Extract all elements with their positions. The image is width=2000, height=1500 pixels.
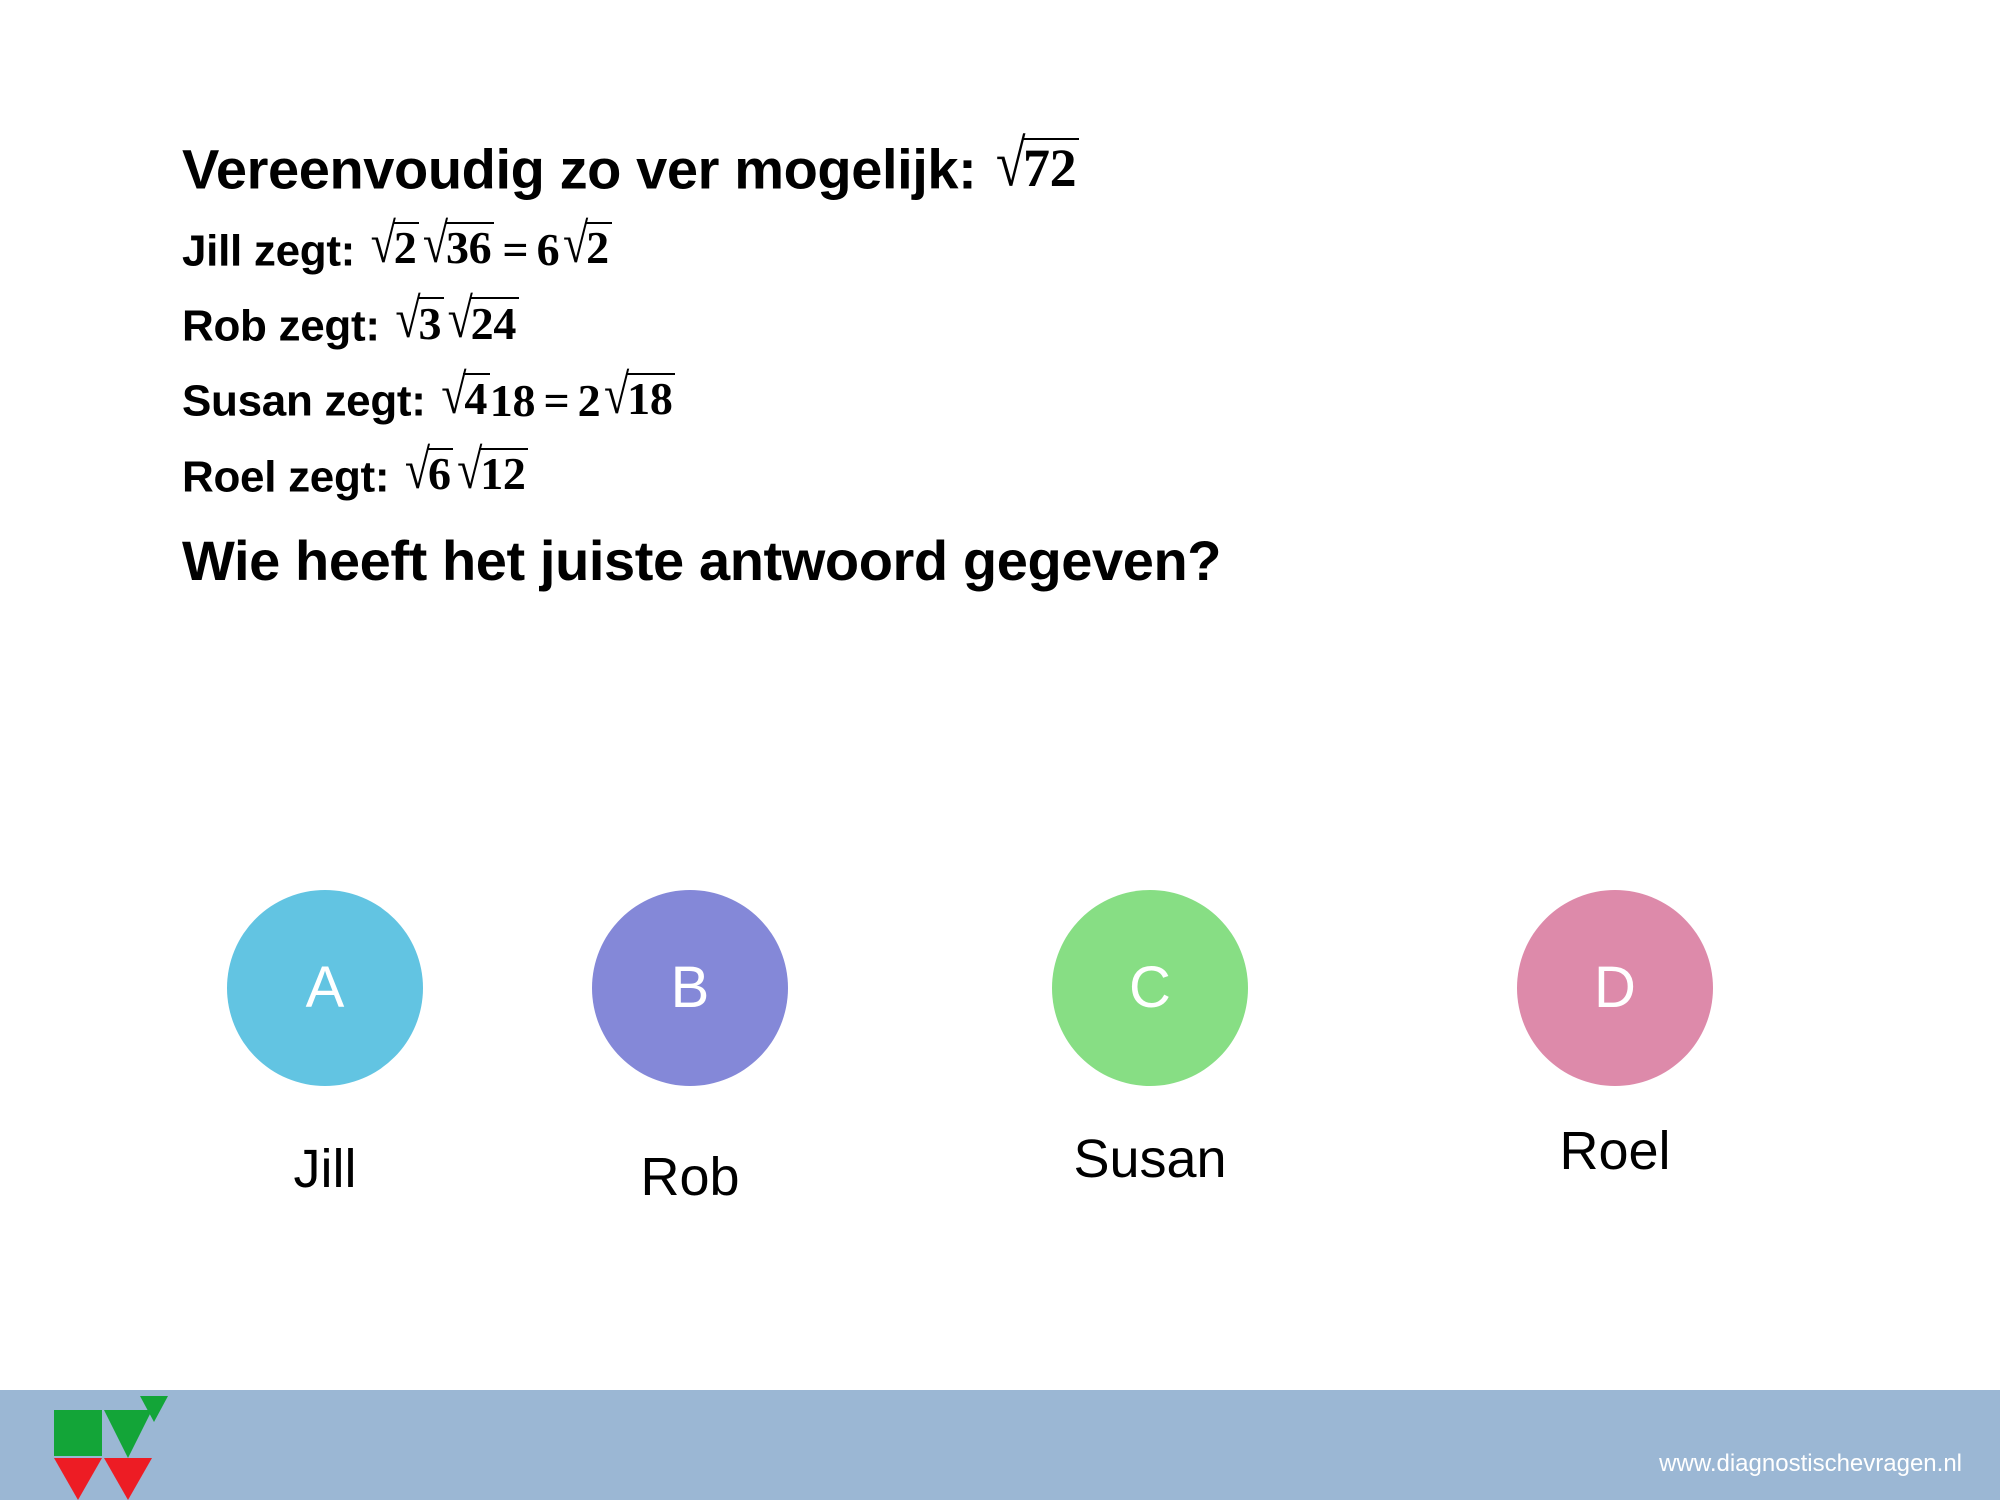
radical-sign-icon: √ [395, 291, 420, 347]
radical-sign-icon: √ [996, 130, 1025, 196]
radicand-roel-2: 12 [479, 448, 528, 497]
answer-label-c: Susan [1035, 1128, 1265, 1190]
trailing-number-susan: 18 [490, 375, 535, 426]
radical-72: √72 [992, 140, 1080, 198]
answer-options: A Jill B Rob C Susan D Roel [150, 890, 1910, 1310]
radical-rob-1: √3 [392, 299, 444, 348]
answer-option-b[interactable]: B Rob [575, 890, 805, 1208]
question-content: Vereenvoudig zo ver mogelijk: √72 Jill z… [182, 140, 1882, 589]
radicand-72: 72 [1022, 138, 1080, 196]
radical-roel-2: √12 [453, 450, 528, 499]
radical-sign-icon: √ [441, 366, 466, 422]
radicand-jill-3: 2 [585, 222, 611, 271]
answer-bubble-b[interactable]: B [592, 890, 788, 1086]
answer-option-c[interactable]: C Susan [1035, 890, 1265, 1190]
statement-susan: Susan zegt: √418=2√18 [182, 374, 1882, 423]
statement-roel-expression: √6√12 [401, 450, 528, 501]
statement-susan-expression: √418=2√18 [438, 375, 676, 426]
question-title-text: Vereenvoudig zo ver mogelijk: [182, 138, 976, 201]
radicand-susan-1: 4 [463, 373, 489, 422]
radicand-rob-2: 24 [470, 297, 519, 346]
radical-sign-icon: √ [405, 442, 430, 498]
radical-susan-1: √4 [438, 374, 490, 423]
statement-rob-label: Rob zegt: [182, 301, 380, 350]
radicand-rob-1: 3 [418, 297, 444, 346]
question-title: Vereenvoudig zo ver mogelijk: √72 [182, 140, 1882, 198]
statement-jill-label: Jill zegt: [182, 226, 355, 275]
coefficient-susan: 2 [578, 375, 601, 426]
statement-susan-label: Susan zegt: [182, 377, 426, 426]
statement-roel-label: Roel zegt: [182, 452, 389, 501]
statement-rob-expression: √3√24 [392, 299, 519, 350]
radical-rob-2: √24 [444, 299, 519, 348]
answer-option-a[interactable]: A Jill [210, 890, 440, 1200]
answer-bubble-a[interactable]: A [227, 890, 423, 1086]
radicand-roel-1: 6 [427, 448, 453, 497]
answer-option-d[interactable]: D Roel [1500, 890, 1730, 1182]
answer-label-d: Roel [1500, 1120, 1730, 1182]
statement-jill: Jill zegt: √2√36=6√2 [182, 224, 1882, 273]
answer-label-b: Rob [575, 1146, 805, 1208]
equals-sign-jill: = [494, 224, 536, 275]
radical-jill-3: √2 [559, 224, 611, 273]
slide-canvas: Vereenvoudig zo ver mogelijk: √72 Jill z… [0, 0, 2000, 1500]
radical-sign-icon: √ [371, 216, 396, 272]
answer-bubble-d[interactable]: D [1517, 890, 1713, 1086]
radical-sign-icon: √ [448, 291, 473, 347]
radical-sign-icon: √ [563, 216, 588, 272]
radicand-jill-2: 36 [445, 222, 494, 271]
radical-susan-2: √18 [600, 374, 675, 423]
radical-roel-1: √6 [401, 450, 453, 499]
equals-sign-susan: = [535, 375, 577, 426]
footer-website-url[interactable]: www.diagnostischevragen.nl [1659, 1450, 1962, 1478]
diagnostische-vragen-logo-icon [48, 1396, 168, 1500]
statement-jill-expression: √2√36=6√2 [367, 224, 612, 275]
radical-sign-icon: √ [423, 216, 448, 272]
radical-jill-1: √2 [367, 224, 419, 273]
radical-jill-2: √36 [419, 224, 494, 273]
title-radical-expression: √72 [992, 141, 1080, 201]
radicand-susan-2: 18 [626, 373, 675, 422]
radical-sign-icon: √ [457, 442, 482, 498]
radicand-jill-1: 2 [393, 222, 419, 271]
question-prompt: Wie heeft het juiste antwoord gegeven? [182, 533, 1882, 589]
footer-bar: www.diagnostischevragen.nl [0, 1390, 2000, 1500]
statement-rob: Rob zegt: √3√24 [182, 299, 1882, 348]
answer-bubble-c[interactable]: C [1052, 890, 1248, 1086]
statement-roel: Roel zegt: √6√12 [182, 450, 1882, 499]
radical-sign-icon: √ [604, 366, 629, 422]
coefficient-jill: 6 [537, 224, 560, 275]
answer-label-a: Jill [210, 1138, 440, 1200]
